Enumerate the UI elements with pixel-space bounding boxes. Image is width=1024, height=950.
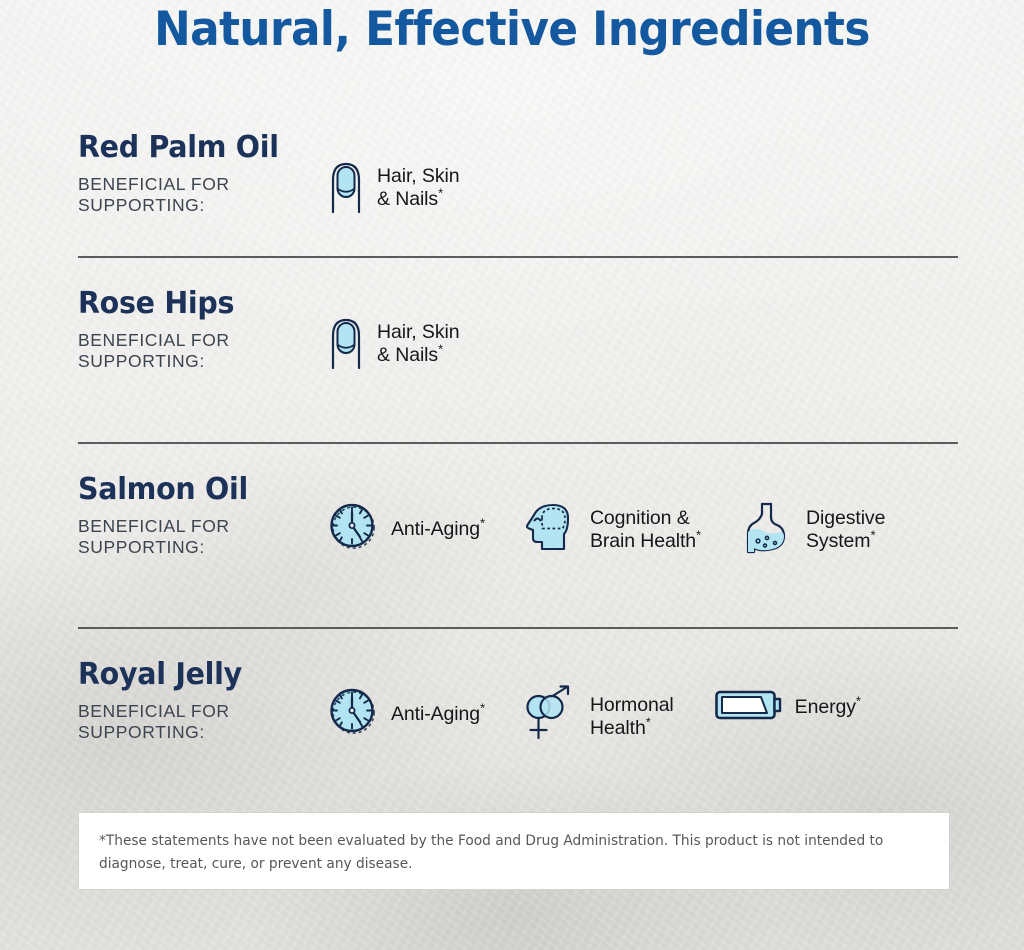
benefit-item: Digestive System* bbox=[741, 498, 885, 561]
ingredient-list: Red Palm Oil BENEFICIAL FOR SUPPORTING: … bbox=[78, 130, 958, 807]
benefit-list: Anti-Aging* Cognition & Brain Health* bbox=[310, 472, 958, 561]
battery-icon bbox=[714, 683, 786, 732]
benefit-item: Energy* bbox=[714, 683, 861, 732]
benefit-item: Anti-Aging* bbox=[324, 498, 485, 561]
disclaimer-box: *These statements have not been evaluate… bbox=[78, 812, 950, 890]
ingredient-name: Salmon Oil bbox=[78, 474, 298, 506]
footnote-star: * bbox=[870, 527, 875, 542]
clock-icon bbox=[324, 498, 382, 561]
footnote-star: * bbox=[856, 694, 861, 709]
benefit-label: Hair, Skin & Nails* bbox=[377, 165, 459, 211]
ingredient-row: Red Palm Oil BENEFICIAL FOR SUPPORTING: … bbox=[78, 130, 958, 256]
ingredient-info: Salmon Oil BENEFICIAL FOR SUPPORTING: bbox=[78, 472, 310, 559]
ingredient-info: Royal Jelly BENEFICIAL FOR SUPPORTING: bbox=[78, 657, 310, 744]
ingredient-row: Royal Jelly BENEFICIAL FOR SUPPORTING: bbox=[78, 629, 958, 807]
benefit-list: Hair, Skin & Nails* bbox=[310, 286, 958, 375]
benefit-item: Hair, Skin & Nails* bbox=[324, 312, 459, 375]
footnote-star: * bbox=[696, 527, 701, 542]
benefit-item: Anti-Aging* bbox=[324, 683, 485, 746]
ingredient-info: Rose Hips BENEFICIAL FOR SUPPORTING: bbox=[78, 286, 310, 373]
benefit-label: Cognition & Brain Health* bbox=[590, 507, 701, 553]
page-title: Natural, Effective Ingredients bbox=[36, 2, 988, 57]
benefit-label: Energy* bbox=[795, 696, 861, 719]
ingredient-info: Red Palm Oil BENEFICIAL FOR SUPPORTING: bbox=[78, 130, 310, 217]
benefit-list: Anti-Aging* bbox=[310, 657, 958, 750]
ingredient-name: Red Palm Oil bbox=[78, 132, 298, 164]
beneficial-for-label: BENEFICIAL FOR SUPPORTING: bbox=[78, 516, 310, 559]
benefit-label: Anti-Aging* bbox=[391, 703, 485, 726]
footnote-star: * bbox=[438, 341, 443, 356]
benefit-label: Digestive System* bbox=[806, 507, 885, 553]
footnote-star: * bbox=[438, 185, 443, 200]
clock-icon bbox=[324, 683, 382, 746]
beneficial-for-label: BENEFICIAL FOR SUPPORTING: bbox=[78, 330, 310, 373]
ingredient-row: Rose Hips BENEFICIAL FOR SUPPORTING: Hai… bbox=[78, 258, 958, 442]
ingredient-name: Rose Hips bbox=[78, 288, 298, 320]
fingernail-icon bbox=[324, 312, 368, 375]
footnote-star: * bbox=[646, 714, 651, 729]
beneficial-for-label: BENEFICIAL FOR SUPPORTING: bbox=[78, 174, 310, 217]
fingernail-icon bbox=[324, 156, 368, 219]
beneficial-for-label: BENEFICIAL FOR SUPPORTING: bbox=[78, 701, 310, 744]
disclaimer-text: *These statements have not been evaluate… bbox=[99, 830, 896, 876]
stomach-icon bbox=[741, 498, 797, 561]
benefit-item: Hormonal Health* bbox=[523, 683, 674, 750]
gender-symbols-icon bbox=[523, 683, 581, 750]
benefit-item: Hair, Skin & Nails* bbox=[324, 156, 459, 219]
benefit-label: Anti-Aging* bbox=[391, 518, 485, 541]
infographic-page: Natural, Effective Ingredients Red Palm … bbox=[0, 0, 1024, 950]
benefit-item: Cognition & Brain Health* bbox=[523, 498, 701, 561]
head-brain-icon bbox=[523, 498, 581, 561]
ingredient-row: Salmon Oil BENEFICIAL FOR SUPPORTING: bbox=[78, 444, 958, 627]
ingredient-name: Royal Jelly bbox=[78, 659, 298, 691]
footnote-star: * bbox=[480, 701, 485, 716]
benefit-label: Hormonal Health* bbox=[590, 694, 674, 740]
footnote-star: * bbox=[480, 516, 485, 531]
benefit-label: Hair, Skin & Nails* bbox=[377, 321, 459, 367]
benefit-list: Hair, Skin & Nails* bbox=[310, 130, 958, 219]
